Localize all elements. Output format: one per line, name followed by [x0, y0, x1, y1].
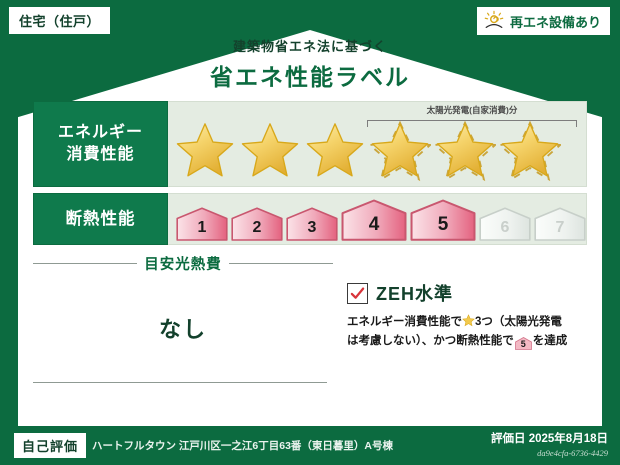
insulation-performance-row: 断熱性能 1234567: [33, 193, 587, 245]
star-filled: [174, 120, 236, 182]
energy-label-line2: 消費性能: [66, 144, 134, 166]
title-subtitle: 建築物省エネ法に基づく: [0, 36, 620, 55]
insulation-level-6: 6: [479, 207, 531, 241]
utility-cost-title: 目安光熱費: [144, 253, 222, 274]
insulation-level-value: 7: [556, 219, 565, 241]
zeh-description: エネルギー消費性能で3つ（太陽光発電 は考慮しない）、かつ断熱性能で5を達成: [347, 313, 587, 351]
insulation-level-5: 5: [410, 199, 476, 241]
star-filled: [239, 120, 301, 182]
evaluation-date-value: 2025年8月18日: [529, 433, 608, 445]
sun-icon: [483, 10, 505, 32]
insulation-level-value: 2: [253, 219, 262, 241]
property-name: ハートフルタウン 江戸川区一之江6丁目63番（東日暮里）A号棟: [92, 438, 393, 453]
heading-rule-right: [229, 263, 333, 264]
star-filled: [304, 120, 366, 182]
star-solar: [369, 120, 431, 182]
solar-portion-note: 太陽光発電(自家消費)分: [365, 104, 579, 116]
evaluation-date-label: 評価日: [491, 433, 526, 445]
utility-cost-heading: 目安光熱費: [33, 253, 333, 274]
energy-label-line1: エネルギー: [58, 122, 143, 144]
utility-cost-value: なし: [33, 312, 333, 344]
page-title: 省エネ性能ラベル: [0, 58, 620, 92]
insulation-level-1: 1: [176, 207, 228, 241]
insulation-level-7: 7: [534, 207, 586, 241]
energy-star-rating: [174, 120, 580, 182]
insulation-level-value: 4: [369, 214, 380, 241]
zeh-checkbox[interactable]: [347, 283, 368, 304]
insulation-label-text: 断熱性能: [66, 208, 136, 230]
energy-rating-area: 太陽光発電(自家消費)分: [168, 101, 587, 187]
star-solar: [499, 120, 561, 182]
performance-rows: エネルギー 消費性能 太陽光発電(自家消費)分 断熱性能 1234567: [33, 101, 587, 251]
dwelling-type-badge: 住宅（住戸）: [8, 6, 111, 35]
heading-rule-left: [33, 263, 137, 264]
renewable-energy-badge: 再エネ設備あり: [476, 6, 611, 36]
renewable-badge-label: 再エネ設備あり: [510, 12, 601, 31]
mini-star-icon: [462, 314, 475, 327]
mini-level-value: 5: [515, 337, 532, 351]
utility-cost-block: 目安光熱費 なし: [33, 253, 333, 389]
energy-performance-label: エネルギー 消費性能: [33, 101, 168, 187]
star-solar: [434, 120, 496, 182]
label-root: 住宅（住戸） 再エネ設備あり 建築物省エネ法に基づく 省エネ性能ラベル: [0, 0, 620, 465]
footer-bar: 自己評価 ハートフルタウン 江戸川区一之江6丁目63番（東日暮里）A号棟 評価日…: [0, 426, 620, 465]
zeh-title: ZEH水準: [376, 280, 453, 306]
title-block: 建築物省エネ法に基づく 省エネ性能ラベル: [0, 36, 620, 92]
insulation-level-4: 4: [341, 199, 407, 241]
insulation-level-value: 3: [308, 219, 317, 241]
self-evaluation-badge: 自己評価: [14, 433, 86, 458]
insulation-level-value: 5: [438, 214, 449, 241]
zeh-desc-mid: 3つ（太陽光発電: [475, 316, 562, 328]
evaluation-date: 評価日 2025年8月18日: [491, 430, 608, 446]
zeh-heading: ZEH水準: [347, 280, 587, 306]
insulation-level-scale: 1234567: [176, 199, 586, 241]
energy-performance-row: エネルギー 消費性能 太陽光発電(自家消費)分: [33, 101, 587, 187]
zeh-desc-line2-post: を達成: [533, 335, 568, 347]
zeh-block: ZEH水準 エネルギー消費性能で3つ（太陽光発電 は考慮しない）、かつ断熱性能で…: [333, 253, 587, 389]
insulation-performance-label: 断熱性能: [33, 193, 168, 245]
mini-level-badge: 5: [515, 337, 532, 350]
evaluation-id: da9e4cfa-6736-4429: [491, 448, 608, 458]
lower-section: 目安光熱費 なし ZEH水準 エネルギー消費性能で3つ（太陽光発電 は考慮しない…: [33, 253, 587, 389]
zeh-desc-pre: エネルギー消費性能で: [347, 316, 462, 328]
check-icon: [350, 286, 365, 301]
utility-cost-rule-bottom: [33, 382, 327, 383]
insulation-level-3: 3: [286, 207, 338, 241]
insulation-level-2: 2: [231, 207, 283, 241]
insulation-rating-area: 1234567: [168, 193, 587, 245]
zeh-desc-line2-pre: は考慮しない）、かつ断熱性能で: [347, 335, 514, 347]
evaluation-info: 評価日 2025年8月18日 da9e4cfa-6736-4429: [491, 430, 608, 458]
insulation-level-value: 6: [501, 219, 510, 241]
insulation-level-value: 1: [198, 219, 207, 241]
